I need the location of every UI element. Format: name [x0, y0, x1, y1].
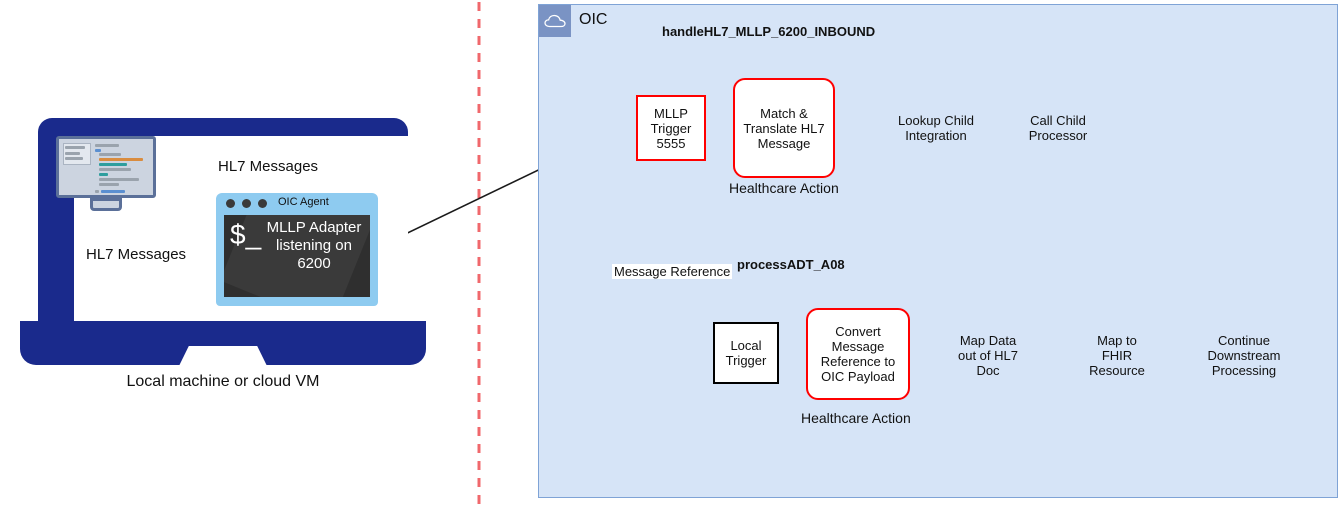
lane-caption-top: Healthcare Action [729, 180, 839, 196]
mllp-trigger-line1: MLLP [654, 106, 688, 121]
convert-message-label: Convert Message Reference to OIC Payload [808, 310, 908, 398]
agent-terminal-screen: $_ MLLP Adapter listening on 6200 [224, 215, 370, 297]
continue-downstream-processing-node[interactable]: Continue Downstream Processing [1198, 330, 1290, 380]
oic-panel-label: OIC [579, 11, 607, 29]
mllp-trigger-node[interactable]: MLLP Trigger 5555 [636, 95, 706, 161]
agent-window-title: OIC Agent [278, 196, 329, 208]
convert-message-reference-node[interactable]: Convert Message Reference to OIC Payload [806, 308, 910, 400]
call-child-label: Call Child Processor [1018, 105, 1098, 151]
monitor-body [56, 136, 156, 198]
oic-panel: OIC [538, 4, 1338, 498]
lookup-child-label: Lookup Child Integration [896, 105, 976, 151]
match-translate-node[interactable]: Match & Translate HL7 Message [733, 78, 835, 178]
flow-title-top: handleHL7_MLLP_6200_INBOUND [662, 24, 875, 39]
diagram-canvas: OIC Agent $_ MLLP Adapter listening on 6… [0, 0, 1341, 512]
label-hl7-messages-to-monitor: HL7 Messages [218, 158, 318, 175]
monitor-stand [90, 198, 122, 211]
window-dot-3 [258, 199, 267, 208]
flow-title-bottom: processADT_A08 [737, 257, 845, 272]
terminal-output-text: MLLP Adapter listening on 6200 [262, 219, 366, 273]
terminal-prompt-icon: $_ [230, 221, 261, 249]
label-hl7-messages-to-agent: HL7 Messages [86, 246, 186, 263]
mllp-trigger-line3: 5555 [657, 136, 686, 151]
local-trigger-label: Local Trigger [715, 324, 777, 382]
map-data-out-of-hl7-doc-node[interactable]: Map Data out of HL7 Doc [949, 330, 1027, 380]
monitor-icon [56, 136, 161, 218]
map-to-fhir-resource-node[interactable]: Map to FHIR Resource [1082, 334, 1152, 376]
laptop-caption: Local machine or cloud VM [20, 373, 426, 391]
window-dot-1 [226, 199, 235, 208]
window-dot-2 [242, 199, 251, 208]
cloud-icon [539, 5, 571, 37]
mllp-trigger-line2: Trigger [651, 121, 692, 136]
map-fhir-label: Map to FHIR Resource [1082, 334, 1152, 376]
local-trigger-node[interactable]: Local Trigger [713, 322, 779, 384]
agent-title-bar: OIC Agent [216, 193, 378, 213]
call-child-processor-node[interactable]: Call Child Processor [1018, 105, 1098, 151]
match-translate-label: Match & Translate HL7 Message [735, 80, 833, 176]
map-data-label: Map Data out of HL7 Doc [949, 330, 1027, 380]
lookup-child-integration-node[interactable]: Lookup Child Integration [896, 105, 976, 151]
message-reference-label: Message Reference [612, 264, 732, 279]
laptop-trackpad-notch [178, 346, 268, 368]
lane-caption-bottom: Healthcare Action [801, 410, 911, 426]
oic-agent-window: OIC Agent $_ MLLP Adapter listening on 6… [216, 193, 378, 306]
continue-downstream-label: Continue Downstream Processing [1198, 330, 1290, 380]
